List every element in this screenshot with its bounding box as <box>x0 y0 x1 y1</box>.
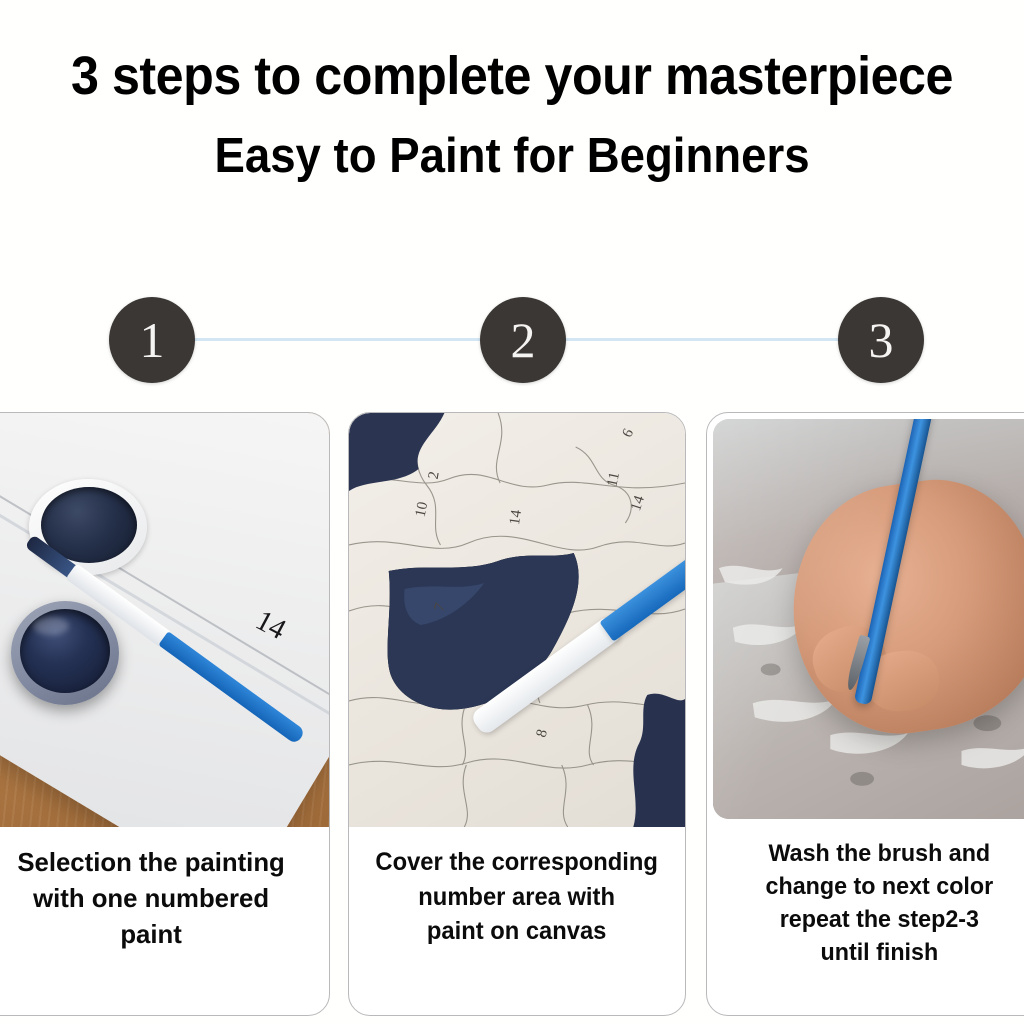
caption-2-line-3: paint on canvas <box>427 917 607 945</box>
step-number-3: 3 <box>869 315 894 365</box>
headline-line-2: Easy to Paint for Beginners <box>36 131 988 182</box>
caption-1-line-3: paint <box>120 919 181 949</box>
filled-navy-region-top-left <box>349 413 444 491</box>
paint-pot <box>11 601 119 705</box>
headline: 3 steps to complete your masterpiece Eas… <box>0 48 1024 182</box>
step-indicator: 1 2 3 <box>0 297 1024 387</box>
step-circle-2[interactable]: 2 <box>480 297 566 383</box>
step-cards-row: 14 Selection the painting with one numbe… <box>0 412 1024 1024</box>
photo-glare-overlay <box>713 419 1024 819</box>
caption-1-line-1: Selection the painting <box>17 847 284 877</box>
step-card-2[interactable]: 10 2 14 11 14 6 7 8 Cover the correspond… <box>348 412 686 1016</box>
caption-3-line-4: until finish <box>820 939 938 966</box>
paint-pot-highlight <box>33 617 69 635</box>
step-number-2: 2 <box>511 315 536 365</box>
caption-3-line-2: change to next color <box>765 873 993 900</box>
step-number-1: 1 <box>140 315 165 365</box>
step-2-caption: Cover the corresponding number area with… <box>349 827 685 1015</box>
caption-2-line-2: number area with <box>419 883 616 911</box>
step-card-3[interactable]: Wash the brush and change to next color … <box>706 412 1024 1016</box>
canvas-number-14: 14 <box>507 509 526 526</box>
caption-3-line-3: repeat the step2-3 <box>779 906 978 933</box>
step-3-photo <box>713 419 1024 819</box>
canvas-number-10: 10 <box>413 500 433 518</box>
caption-3-line-1: Wash the brush and <box>768 840 990 867</box>
step-3-caption: Wash the brush and change to next color … <box>707 819 1024 1015</box>
headline-line-1: 3 steps to complete your masterpiece <box>36 48 988 105</box>
step-card-1[interactable]: 14 Selection the painting with one numbe… <box>0 412 330 1016</box>
step-circle-1[interactable]: 1 <box>109 297 195 383</box>
filled-navy-region-right <box>633 694 685 827</box>
step-1-photo: 14 <box>0 413 329 827</box>
caption-1-line-2: with one numbered <box>33 883 269 913</box>
step-circle-3[interactable]: 3 <box>838 297 924 383</box>
caption-2-line-1: Cover the corresponding <box>376 848 658 876</box>
step-1-caption: Selection the painting with one numbered… <box>0 827 329 1015</box>
step-2-photo: 10 2 14 11 14 6 7 8 <box>349 413 685 827</box>
